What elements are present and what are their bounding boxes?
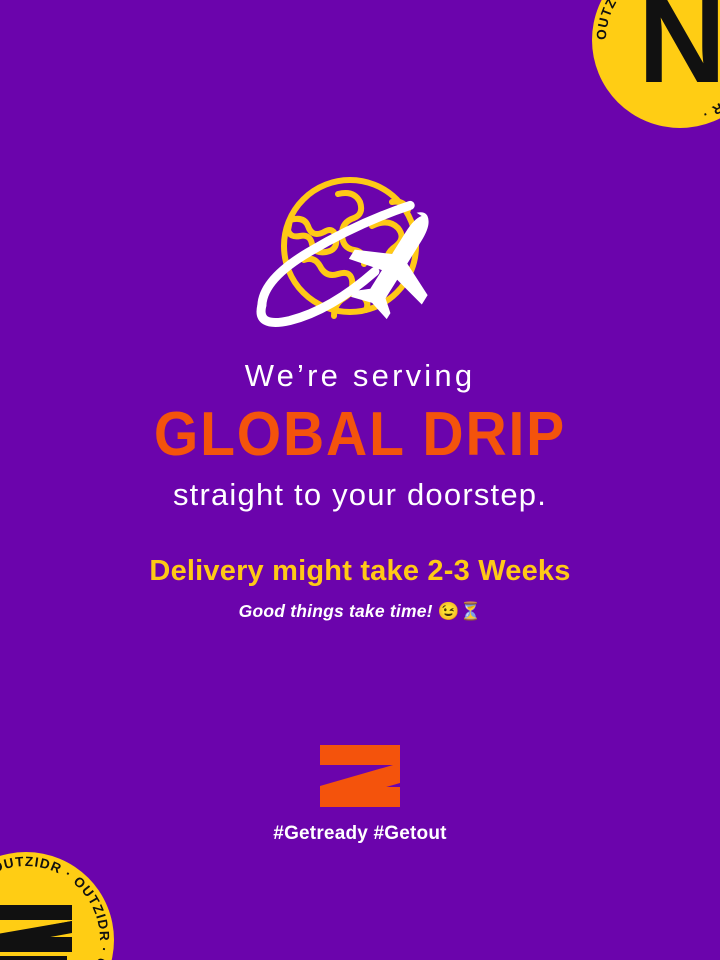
tagline-bottom: straight to your doorstep. xyxy=(0,479,720,512)
tagline-top: We’re serving xyxy=(0,360,720,393)
poster-copy-block: We’re serving GLOBAL DRIP straight to yo… xyxy=(0,360,720,620)
badge-core-top-right: N xyxy=(624,0,720,96)
badge-core-bottom-left: OUTZIDR xyxy=(0,884,82,960)
brand-badge-bottom-left: OUTZIDR · OUTZIDR · OUTZIDR · OUTZIDR · … xyxy=(0,852,114,960)
promo-poster: OUTZIDR · OUTZIDR · OUTZIDR · OUTZIDR · … xyxy=(0,0,720,960)
brand-badge-top-right: OUTZIDR · OUTZIDR · OUTZIDR · OUTZIDR · … xyxy=(592,0,720,128)
brand-tagline: #Getready #Getout xyxy=(273,823,446,845)
delivery-subnote-text: Good things take time! xyxy=(239,601,433,621)
globe-airplane-illustration xyxy=(0,168,720,343)
z-logo-icon xyxy=(320,745,400,807)
badge-center-letter: N xyxy=(638,0,720,90)
z-logo-icon xyxy=(0,903,78,955)
delivery-estimate: Delivery might take 2-3 Weeks xyxy=(0,556,720,586)
footer-brand-block: #Getready #Getout xyxy=(0,745,720,845)
badge-wordmark: OUTZIDR xyxy=(0,956,67,960)
page-title: GLOBAL DRIP xyxy=(29,402,691,467)
delivery-subnote: Good things take time! 😉⏳ xyxy=(0,602,720,620)
wink-hourglass-emoji: 😉⏳ xyxy=(438,601,482,621)
